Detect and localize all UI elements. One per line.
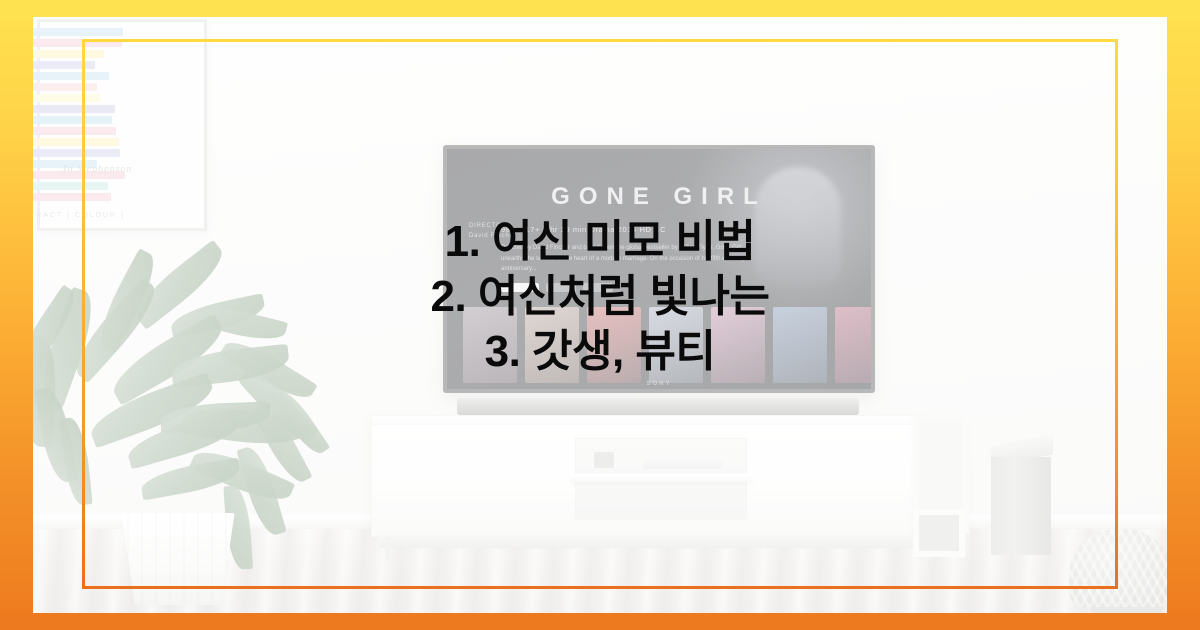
console-device-secondary <box>642 456 723 469</box>
art-stripe <box>33 149 120 157</box>
wall-art-frame: Jo Stephenson ABSTRACT [ COLOUR ] <box>37 19 207 231</box>
soundbar <box>457 398 859 415</box>
plant-pot <box>115 513 241 605</box>
tv-movie-title: GONE GIRL <box>447 183 871 211</box>
tv-brand-label: SONY <box>447 381 871 387</box>
console-shelf <box>570 474 752 482</box>
border-top <box>0 0 1200 17</box>
console-leg-left <box>385 537 390 559</box>
art-stripe <box>33 50 104 58</box>
art-stripe <box>33 182 108 190</box>
art-stripe <box>33 72 109 80</box>
art-stripe <box>33 127 116 135</box>
console-device <box>594 452 614 468</box>
console-top-surface <box>372 416 930 425</box>
art-stripes <box>33 28 140 156</box>
art-stripe <box>33 61 95 69</box>
art-stripe <box>33 105 115 113</box>
art-stripe <box>33 116 112 124</box>
knit-pouf <box>1069 529 1167 607</box>
art-stripe <box>33 28 123 36</box>
art-stripe <box>33 83 97 91</box>
headline-line-1: 1. 여신 미모 비법 <box>0 214 1200 269</box>
poster-canvas: Jo Stephenson ABSTRACT [ COLOUR ] GONE G… <box>0 0 1200 630</box>
art-stripe <box>33 193 111 201</box>
floor-speaker <box>991 457 1051 555</box>
wall-picture-small <box>913 509 965 557</box>
headline-line-2: 2. 여신처럼 빛나는 <box>0 269 1200 324</box>
art-signature: Jo Stephenson <box>62 164 133 175</box>
art-stripe <box>33 94 100 102</box>
art-stripe <box>33 39 122 47</box>
art-stripe <box>33 138 119 146</box>
headline-text: 1. 여신 미모 비법 2. 여신처럼 빛나는 3. 갓생, 뷰티 <box>0 214 1200 379</box>
headline-line-3: 3. 갓생, 뷰티 <box>0 324 1200 379</box>
plant-leaf <box>60 416 93 506</box>
border-bottom <box>0 613 1200 630</box>
tv-console <box>371 415 931 537</box>
console-base <box>379 535 925 548</box>
